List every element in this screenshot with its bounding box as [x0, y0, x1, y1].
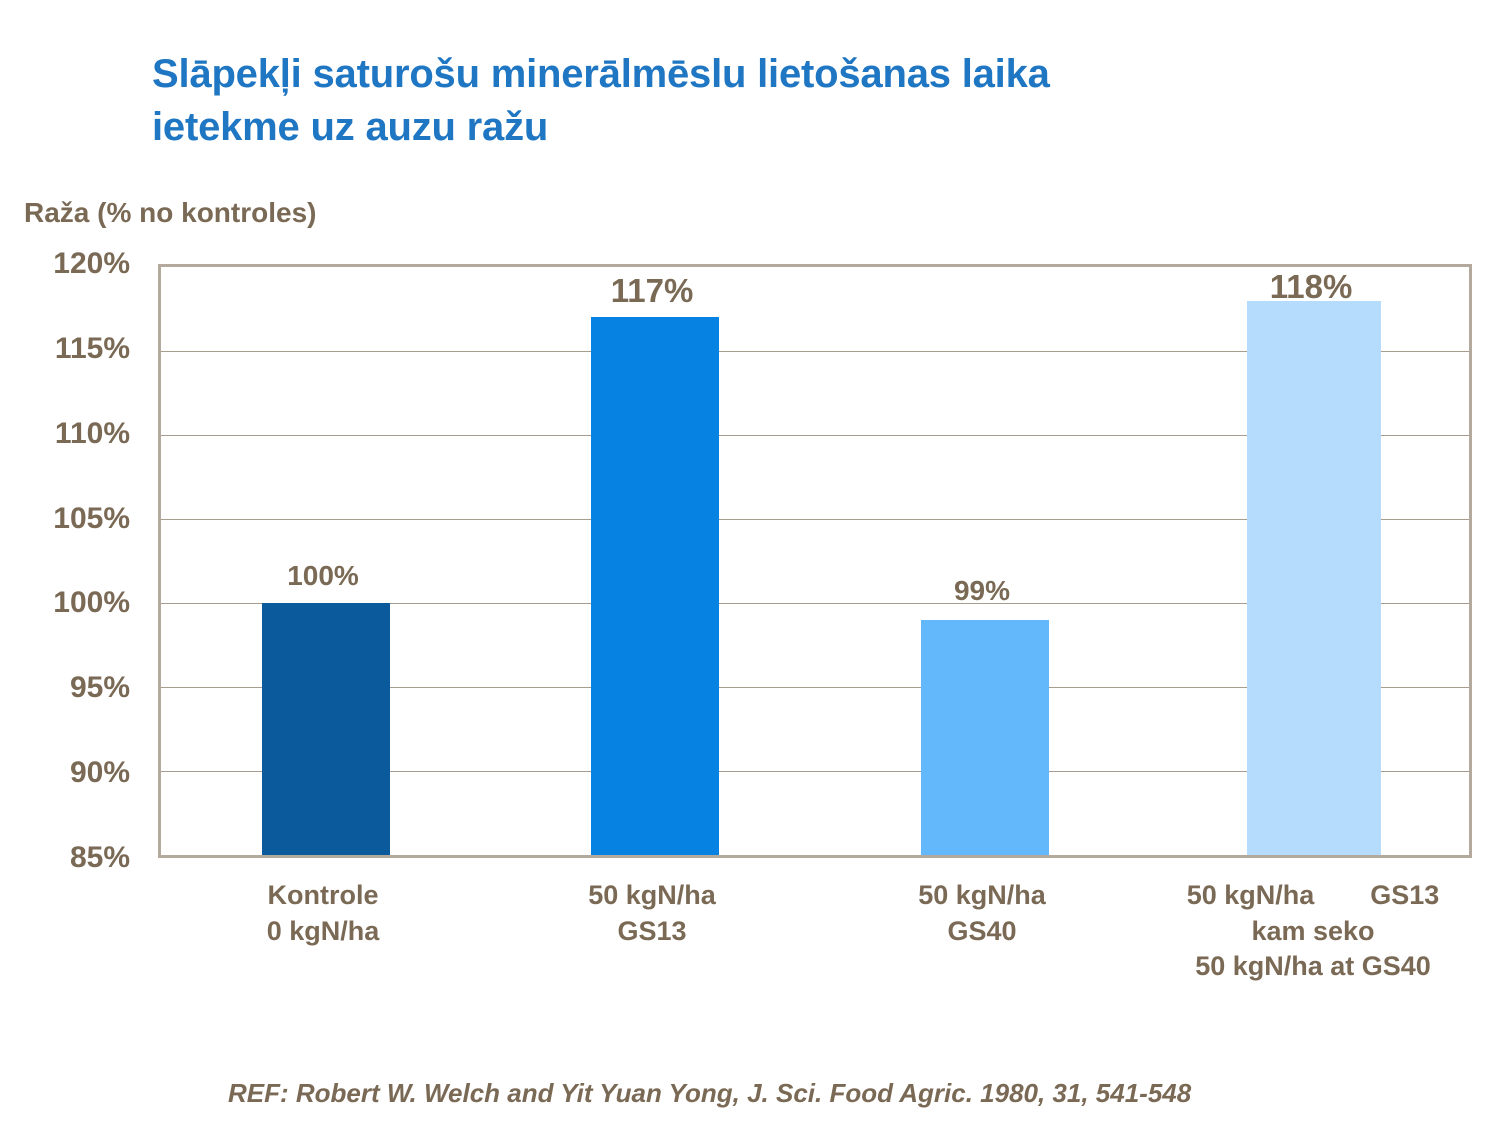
- y-axis-tick-labels: 120% 115% 110% 105% 100% 95% 90% 85%: [0, 264, 148, 858]
- x-label-50kgn-gs13-line-1: 50 kgN/ha: [588, 878, 716, 914]
- x-label-combo-rate: 50 kgN/ha: [1187, 878, 1315, 914]
- y-tick-90: 90%: [70, 756, 130, 790]
- bar-50kgn-gs13[interactable]: [591, 317, 719, 855]
- x-label-kontrole-line-2: 0 kgN/ha: [267, 914, 380, 950]
- x-label-50kgn-gs13-line-2: GS13: [588, 914, 716, 950]
- data-label-50kgn-gs13-then-gs40: 118%: [1270, 268, 1353, 306]
- y-axis-title: Raža (% no kontroles): [24, 197, 316, 229]
- x-label-combo-line-2: kam seko: [1187, 914, 1440, 950]
- y-tick-110: 110%: [55, 417, 130, 451]
- data-label-50kgn-gs13: 117%: [611, 272, 694, 310]
- page-title-line-1: Slāpekļi saturošu minerālmēslu lietošana…: [152, 48, 1332, 101]
- data-label-kontrole: 100%: [287, 560, 359, 592]
- y-tick-85: 85%: [70, 841, 130, 875]
- x-label-50kgn-gs40-line-2: GS40: [918, 914, 1046, 950]
- bar-50kgn-gs13-then-gs40[interactable]: [1247, 301, 1381, 855]
- x-label-50kgn-gs13-then-gs40: 50 kgN/ha GS13 kam seko 50 kgN/ha at GS4…: [1187, 878, 1440, 985]
- x-label-kontrole: Kontrole 0 kgN/ha: [267, 878, 380, 949]
- y-tick-95: 95%: [70, 671, 130, 705]
- x-label-50kgn-gs40: 50 kgN/ha GS40: [918, 878, 1046, 949]
- y-tick-105: 105%: [53, 502, 130, 536]
- y-tick-100: 100%: [53, 586, 130, 620]
- x-label-combo-stage: GS13: [1370, 878, 1439, 914]
- y-tick-120: 120%: [53, 247, 130, 281]
- x-label-50kgn-gs13: 50 kgN/ha GS13: [588, 878, 716, 949]
- bar-kontrole[interactable]: [262, 603, 390, 855]
- x-axis-category-labels: Kontrole 0 kgN/ha 50 kgN/ha GS13 50 kgN/…: [158, 878, 1472, 1018]
- slide-root: Slāpekļi saturošu minerālmēslu lietošana…: [0, 0, 1500, 1125]
- x-label-combo-line-1: 50 kgN/ha GS13: [1187, 878, 1440, 914]
- reference-citation: REF: Robert W. Welch and Yit Yuan Yong, …: [228, 1078, 1191, 1109]
- x-label-kontrole-line-1: Kontrole: [267, 878, 380, 914]
- x-label-combo-line-3: 50 kgN/ha at GS40: [1187, 949, 1440, 985]
- page-title-line-2: ietekme uz auzu ražu: [152, 101, 1332, 154]
- x-label-50kgn-gs40-line-1: 50 kgN/ha: [918, 878, 1046, 914]
- data-label-50kgn-gs40: 99%: [954, 575, 1010, 607]
- bar-50kgn-gs40[interactable]: [921, 620, 1049, 855]
- y-tick-115: 115%: [55, 332, 130, 366]
- page-title: Slāpekļi saturošu minerālmēslu lietošana…: [152, 48, 1332, 154]
